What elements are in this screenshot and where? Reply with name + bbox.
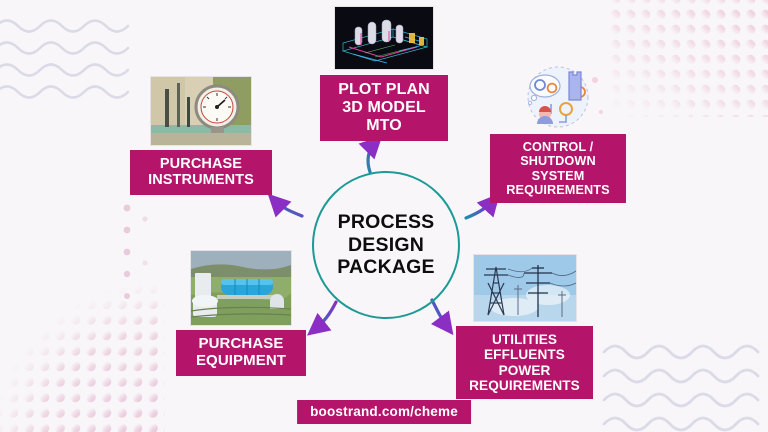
node-utilities-effluents[interactable]: UTILITIES EFFLUENTS POWER REQUIREMENTS <box>456 254 593 399</box>
label-line-2: INSTRUMENTS <box>138 172 264 188</box>
3d-plant-model-image <box>334 6 434 70</box>
center-line-3: PACKAGE <box>337 256 434 279</box>
center-label: PROCESS DESIGN PACKAGE <box>337 211 434 279</box>
center-line-1: PROCESS <box>337 211 434 234</box>
label-line-3: SYSTEM <box>498 169 618 183</box>
arrow-to-purchase-equipment <box>314 302 336 330</box>
arrow-to-plot-plan <box>368 142 376 172</box>
node-label-control-shutdown: CONTROL / SHUTDOWN SYSTEM REQUIREMENTS <box>490 134 626 203</box>
label-line-2: SHUTDOWN <box>498 154 618 168</box>
control-system-illustration <box>509 62 607 132</box>
label-line-1: UTILITIES <box>464 332 585 347</box>
label-line-2: EFFLUENTS <box>464 347 585 362</box>
node-purchase-instruments[interactable]: PURCHASE INSTRUMENTS <box>130 76 272 195</box>
center-line-2: DESIGN <box>337 234 434 257</box>
process-design-package-circle: PROCESS DESIGN PACKAGE <box>312 171 460 319</box>
node-label-utilities-effluents: UTILITIES EFFLUENTS POWER REQUIREMENTS <box>456 326 593 399</box>
node-label-purchase-instruments: PURCHASE INSTRUMENTS <box>130 150 272 195</box>
label-line-1: CONTROL / <box>498 140 618 154</box>
industrial-plant-image <box>190 250 292 326</box>
arrow-to-purchase-instruments <box>274 200 302 216</box>
label-line-4: REQUIREMENTS <box>464 378 585 393</box>
site-url-badge[interactable]: boostrand.com/cheme <box>297 400 471 424</box>
node-control-shutdown[interactable]: CONTROL / SHUTDOWN SYSTEM REQUIREMENTS <box>490 62 626 203</box>
label-line-4: REQUIREMENTS <box>498 183 618 197</box>
pressure-gauge-image <box>150 76 252 146</box>
label-line-1: PLOT PLAN <box>328 81 440 99</box>
label-line-1: PURCHASE <box>138 156 264 172</box>
arrow-to-utilities <box>432 300 448 328</box>
node-label-purchase-equipment: PURCHASE EQUIPMENT <box>176 330 306 376</box>
diagram-canvas: PROCESS DESIGN PACKAGE <box>0 0 768 432</box>
label-line-3: POWER <box>464 363 585 378</box>
node-plot-plan[interactable]: PLOT PLAN 3D MODEL MTO <box>320 6 448 141</box>
node-purchase-equipment[interactable]: PURCHASE EQUIPMENT <box>176 250 306 376</box>
label-line-2: 3D MODEL <box>328 99 440 117</box>
power-transmission-towers-image <box>473 254 577 322</box>
label-line-1: PURCHASE <box>184 336 298 353</box>
label-line-3: MTO <box>328 117 440 135</box>
label-line-2: EQUIPMENT <box>184 353 298 370</box>
node-label-plot-plan: PLOT PLAN 3D MODEL MTO <box>320 75 448 141</box>
